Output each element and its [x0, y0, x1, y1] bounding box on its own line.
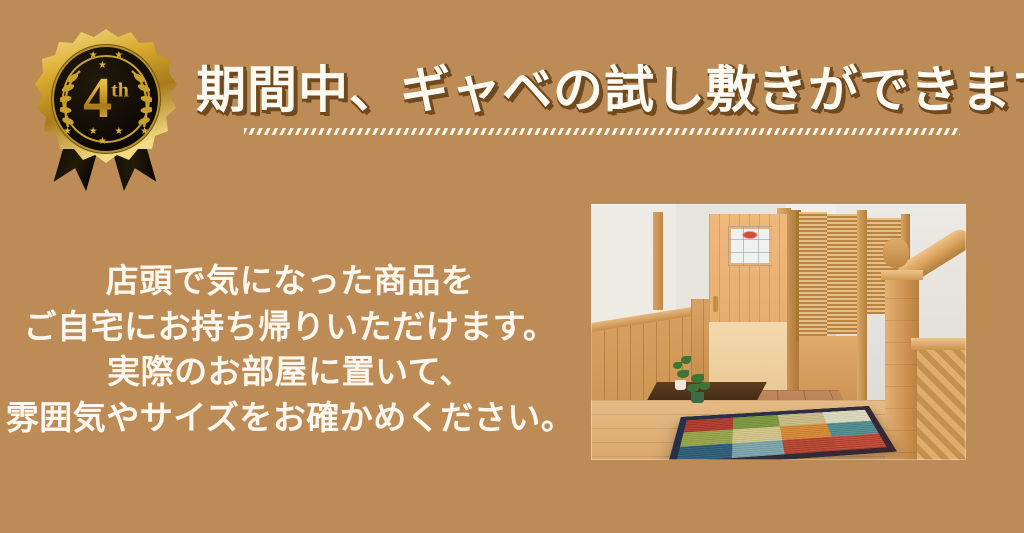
photo-stair-newel [885, 276, 919, 460]
dashed-underline-divider [244, 128, 960, 135]
badge-rank-value: 4 [83, 65, 111, 130]
photo-plant-leaf-3 [677, 370, 689, 378]
photo-louver-door-2 [827, 214, 857, 334]
entryway-rug-photo [591, 204, 966, 460]
badge-rank-ordinal: th [111, 80, 129, 102]
photo-stair-newel-cap [881, 270, 923, 280]
photo-balustrade-rail [911, 338, 966, 350]
photo-plant-pot-1 [675, 380, 686, 390]
badge-center-disc: ★ ★ ★ ★ ★ ★ ★ ★ ★ ★ [52, 45, 160, 153]
photo-balustrade [917, 344, 966, 460]
photo-plant-leaf-2 [681, 356, 691, 364]
description-line-3: 実際のお部屋に置いて、 [0, 349, 580, 395]
photo-louver-frame-2 [857, 210, 867, 410]
photo-plant-leaf-5 [699, 382, 710, 390]
photo-handrail-end [883, 238, 909, 268]
photo-louver-frame-1 [796, 210, 799, 342]
photo-plant-stand [671, 354, 715, 406]
rug-block [676, 443, 732, 460]
description-block: 店頭で気になった商品を ご自宅にお持ち帰りいただけます。 実際のお部屋に置いて、… [0, 258, 580, 440]
photo-louver-door-1 [799, 212, 827, 340]
heading-block: 期間中、ギャベの試し敷きができます！ [196, 62, 976, 135]
photo-plant-leaf-1 [673, 362, 682, 369]
badge-rank-number: 4th [52, 69, 160, 127]
photo-door-wreath [740, 230, 760, 240]
description-line-2: ご自宅にお持ち帰りいただけます。 [0, 304, 580, 350]
photo-plant-pot-2 [691, 392, 704, 403]
photo-plant-leaf-6 [687, 384, 699, 392]
description-line-4: 雰囲気やサイズをお確かめください。 [0, 395, 580, 441]
page-title: 期間中、ギャベの試し敷きができます！ [196, 62, 976, 120]
award-medal-icon: ★ ★ ★ ★ ★ ★ ★ ★ ★ ★ [26, 24, 186, 184]
photo-door-handle [713, 296, 718, 312]
description-line-1: 店頭で気になった商品を [0, 258, 580, 304]
photo-wood-post-a [653, 212, 663, 310]
promo-banner: ★ ★ ★ ★ ★ ★ ★ ★ ★ ★ [0, 0, 1024, 533]
